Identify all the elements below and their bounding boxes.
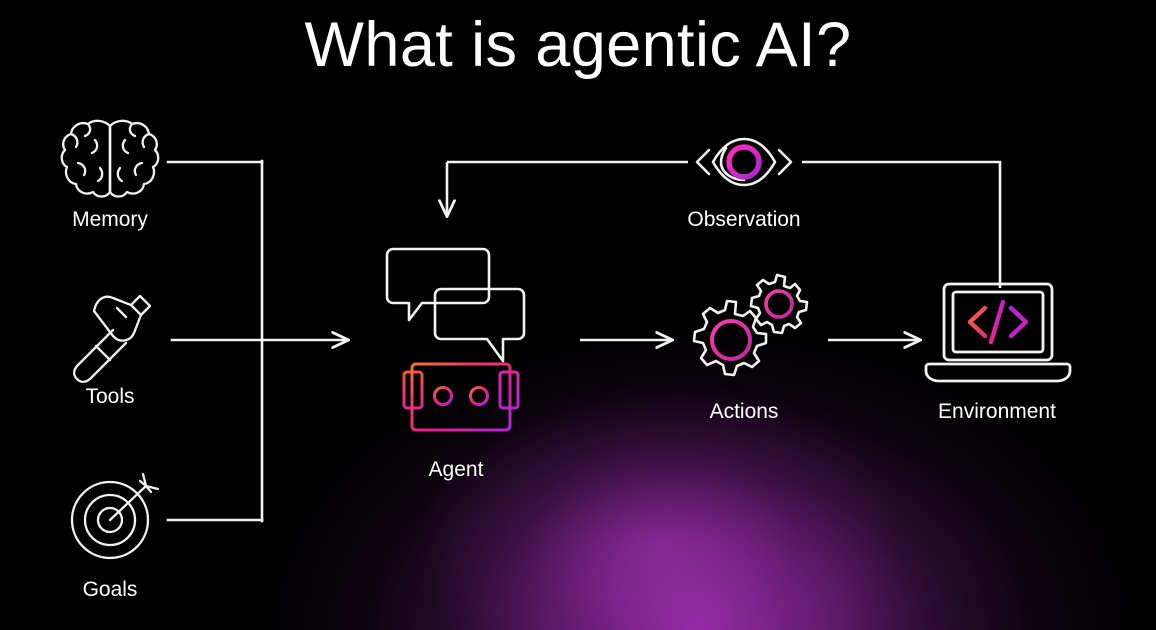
- brain-icon: [62, 121, 158, 197]
- slide-canvas: What is agentic AI?: [0, 0, 1156, 630]
- diagram-svg: [0, 0, 1156, 630]
- gears-icon: [694, 275, 807, 375]
- label-goals: Goals: [83, 578, 138, 602]
- label-tools: Tools: [85, 385, 134, 409]
- eye-icon: [697, 139, 791, 185]
- label-observation: Observation: [687, 208, 800, 232]
- label-agent: Agent: [429, 458, 484, 482]
- label-memory: Memory: [72, 208, 148, 232]
- laptop-code-icon: [926, 284, 1070, 381]
- label-environment: Environment: [938, 400, 1056, 424]
- hammer-icon: [74, 296, 150, 382]
- chat-bubbles-icon: [387, 249, 524, 361]
- target-icon: [72, 474, 158, 558]
- label-actions: Actions: [710, 400, 779, 424]
- robot-icon: [404, 364, 518, 430]
- connector-environment-to-observation: [802, 162, 1000, 288]
